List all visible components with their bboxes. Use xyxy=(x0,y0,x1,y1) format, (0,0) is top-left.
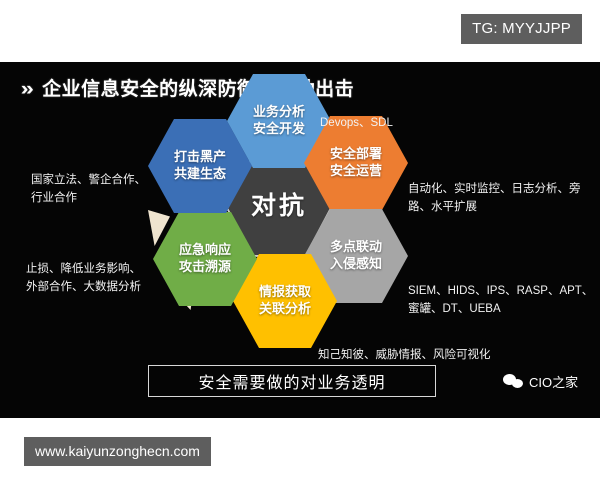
annotation-left-lower: 止损、降低业务影响、外部合作、大数据分析 xyxy=(26,261,152,297)
annotation-right-lower: SIEM、HIDS、IPS、RASP、APT、蜜罐、DT、UEBA xyxy=(408,283,596,319)
hexagon-top-label-1: 业务分析 xyxy=(253,104,305,121)
brand-logo: CIO之家 xyxy=(503,372,578,391)
wechat-icon xyxy=(503,374,524,389)
hexagon-lower-right-label-2: 入侵感知 xyxy=(330,256,382,273)
caption-text: 安全需要做的对业务透明 xyxy=(198,369,385,393)
hexagon-upper-right-label-2: 安全运营 xyxy=(330,163,382,180)
caption-box: 安全需要做的对业务透明 xyxy=(148,365,436,397)
brand-label: CIO之家 xyxy=(529,372,578,391)
tg-watermark-badge: TG: MYYJJPP xyxy=(461,14,582,44)
hexagon-bottom-label-2: 关联分析 xyxy=(259,301,311,318)
hexagon-lower-left-label-2: 攻击溯源 xyxy=(179,259,231,276)
hexagon-lower-left-label-1: 应急响应 xyxy=(179,242,231,259)
slide-panel: »企业信息安全的纵深防御和主动出击 对抗 业务分析 安全开发 安全部署 安全运营… xyxy=(0,62,600,418)
hexagon-top-label-2: 安全开发 xyxy=(253,121,305,138)
hexagon-lower-right-label-1: 多点联动 xyxy=(330,239,382,256)
annotation-left-upper: 国家立法、警企合作、行业合作 xyxy=(31,172,149,208)
hexagon-center-label: 对抗 xyxy=(251,190,307,222)
hexagon-upper-left-label-1: 打击黑产 xyxy=(174,149,226,166)
hexagon-bottom-label-1: 情报获取 xyxy=(259,284,311,301)
hexagon-upper-left-label-2: 共建生态 xyxy=(174,166,226,183)
annotation-top-right: Devops、SDL xyxy=(320,115,460,133)
annotation-bottom-right: 知己知彼、威胁情报、风险可视化 xyxy=(318,347,528,365)
hexagon-upper-right-label-1: 安全部署 xyxy=(330,146,382,163)
site-url-badge: www.kaiyunzonghecn.com xyxy=(24,437,211,466)
annotation-right-upper: 自动化、实时监控、日志分析、旁路、水平扩展 xyxy=(408,181,590,217)
